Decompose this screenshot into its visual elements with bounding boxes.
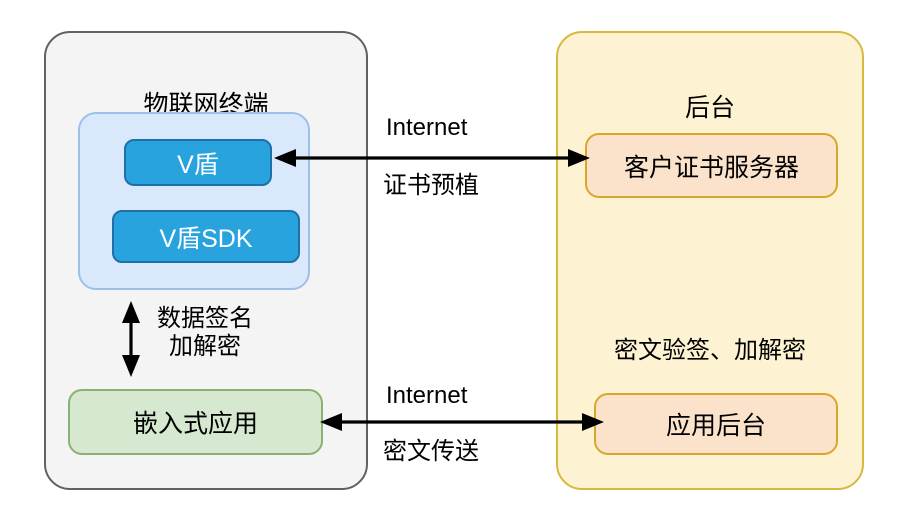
embedded-app-box[interactable]: 嵌入式应用 <box>68 389 323 455</box>
vshield-sdk-box[interactable]: V盾SDK <box>112 210 300 263</box>
data-signing-label-line2: 加解密 <box>157 333 253 361</box>
data-signing-label-line1: 数据签名 <box>157 305 253 333</box>
data-signing-label: 数据签名 加解密 <box>157 305 253 362</box>
diagram-canvas: 物联网终端 后台 V盾 V盾SDK 嵌入式应用 客户证书服务器 应用后台 密文验… <box>0 0 908 522</box>
bottom-connection-label-internet: Internet <box>386 382 467 410</box>
app-backend-box[interactable]: 应用后台 <box>594 393 838 455</box>
backend-operations-label: 密文验签、加解密 <box>556 330 864 365</box>
backend-title: 后台 <box>558 88 862 124</box>
bottom-connection-label-ciphertext: 密文传送 <box>383 438 479 466</box>
customer-cert-server-box[interactable]: 客户证书服务器 <box>585 133 838 198</box>
vshield-box[interactable]: V盾 <box>124 139 272 186</box>
top-connection-label-cert-preload: 证书预植 <box>383 172 479 200</box>
top-connection-label-internet: Internet <box>386 114 467 142</box>
